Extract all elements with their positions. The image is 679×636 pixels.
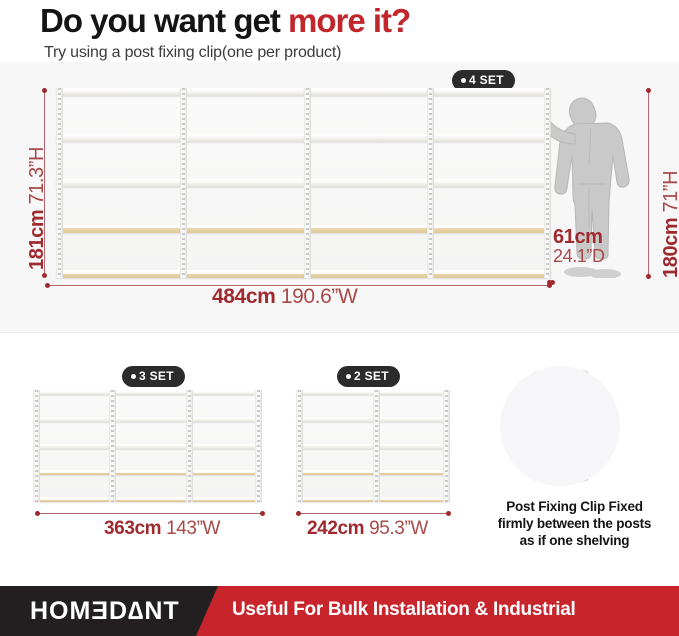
shelf-lip bbox=[109, 471, 185, 473]
shelf-board-white bbox=[186, 444, 262, 449]
shelf-lip bbox=[180, 135, 304, 138]
shelf-lip bbox=[373, 391, 450, 393]
shelf-board-white bbox=[56, 88, 180, 96]
shelf-lip bbox=[304, 135, 428, 138]
clip-caption-line-3: as if one shelving bbox=[470, 532, 679, 549]
shelf-lip bbox=[296, 471, 373, 473]
shelf-bay bbox=[304, 88, 428, 278]
shelf-board-white bbox=[180, 88, 304, 96]
shelf-post bbox=[109, 390, 116, 502]
shelf-lip bbox=[109, 391, 185, 393]
shelf-lip bbox=[56, 271, 180, 274]
shelf-board-wood bbox=[56, 225, 180, 233]
shelf-board-wood bbox=[56, 270, 180, 278]
shelf-lip bbox=[296, 418, 373, 420]
shelf-board-wood bbox=[109, 497, 185, 502]
shelf-lip bbox=[373, 445, 450, 447]
dimension-label-width-3set: 363cm 143”W bbox=[104, 518, 220, 540]
shelf-lip bbox=[373, 471, 450, 473]
shelf-board-white bbox=[180, 179, 304, 187]
shelf-board-white bbox=[296, 444, 373, 449]
brand-logo: HOMƎD∆NT bbox=[30, 597, 180, 626]
shelf-bay bbox=[109, 390, 185, 502]
set-badge-3-label: 3 SET bbox=[139, 369, 174, 383]
shelf-lip bbox=[304, 180, 428, 183]
shelf-board-wood bbox=[304, 270, 428, 278]
footer-tagline: Useful For Bulk Installation & Industria… bbox=[232, 599, 575, 621]
shelf-post bbox=[56, 88, 63, 278]
bullet-dot-icon bbox=[461, 78, 466, 83]
shelf-lip bbox=[56, 226, 180, 229]
shelf-lip bbox=[186, 445, 262, 447]
shelf-post bbox=[255, 390, 262, 502]
shelf-board-wood bbox=[33, 497, 109, 502]
shelf-bay bbox=[296, 390, 373, 502]
shelf-lip bbox=[296, 498, 373, 500]
set-badge-4-label: 4 SET bbox=[469, 73, 504, 87]
dimension-label-depth: 61cm 24.1”D bbox=[553, 228, 605, 266]
shelf-bay bbox=[186, 390, 262, 502]
dimension-line-width-3set bbox=[36, 513, 264, 514]
shelf-board-wood bbox=[109, 470, 185, 475]
shelving-rack-4set bbox=[56, 88, 551, 278]
shelf-board-wood bbox=[373, 497, 450, 502]
shelf-board-wood bbox=[373, 470, 450, 475]
footer-banner: HOMƎD∆NT Useful For Bulk Installation & … bbox=[0, 586, 679, 636]
shelf-board-white bbox=[180, 134, 304, 142]
shelf-lip bbox=[180, 89, 304, 92]
clip-caption: Post Fixing Clip Fixed firmly between th… bbox=[470, 498, 679, 549]
shelf-post bbox=[304, 88, 311, 278]
set-badge-3: 3 SET bbox=[122, 366, 185, 387]
shelf-lip bbox=[33, 418, 109, 420]
shelf-lip bbox=[109, 418, 185, 420]
shelf-lip bbox=[56, 180, 180, 183]
dimension-label-width: 484cm 190.6”W bbox=[212, 285, 357, 309]
shelf-board-white bbox=[427, 134, 551, 142]
shelf-lip bbox=[33, 498, 109, 500]
shelf-board-white bbox=[304, 179, 428, 187]
shelf-lip bbox=[186, 391, 262, 393]
shelf-lip bbox=[304, 226, 428, 229]
shelf-lip bbox=[186, 471, 262, 473]
set-badge-2: 2 SET bbox=[337, 366, 400, 387]
shelf-board-white bbox=[296, 390, 373, 395]
shelf-board-white bbox=[373, 390, 450, 395]
shelf-lip bbox=[180, 271, 304, 274]
shelf-lip bbox=[186, 498, 262, 500]
page-subtitle: Try using a post fixing clip(one per pro… bbox=[44, 44, 341, 62]
shelf-board-wood bbox=[427, 270, 551, 278]
clip-caption-line-2: firmly between the posts bbox=[470, 515, 679, 532]
shelf-board-white bbox=[109, 444, 185, 449]
shelf-board-white bbox=[33, 390, 109, 395]
shelf-lip bbox=[109, 498, 185, 500]
shelf-lip bbox=[427, 89, 551, 92]
shelf-board-white bbox=[373, 444, 450, 449]
shelf-board-white bbox=[427, 179, 551, 187]
post-fixing-clip-image bbox=[500, 366, 620, 486]
shelf-post bbox=[33, 390, 40, 502]
clip-backdrop bbox=[500, 366, 620, 486]
shelf-lip bbox=[427, 180, 551, 183]
shelf-lip bbox=[427, 271, 551, 274]
shelf-lip bbox=[186, 418, 262, 420]
shelf-post bbox=[373, 390, 380, 502]
page-title-red: more it? bbox=[288, 2, 410, 39]
shelf-lip bbox=[56, 89, 180, 92]
shelf-post bbox=[186, 390, 193, 502]
dimension-label-person-height: 180cm 71”H bbox=[660, 171, 679, 278]
shelf-board-white bbox=[296, 417, 373, 422]
shelf-lip bbox=[296, 391, 373, 393]
shelf-post bbox=[427, 88, 434, 278]
dimension-label-height: 181cm 71.3”H bbox=[26, 147, 49, 270]
page-title-black: Do you want get bbox=[40, 2, 288, 39]
shelf-board-wood bbox=[296, 470, 373, 475]
shelf-board-wood bbox=[304, 225, 428, 233]
shelf-bay bbox=[56, 88, 180, 278]
shelf-board-wood bbox=[427, 225, 551, 233]
set-badge-2-label: 2 SET bbox=[354, 369, 389, 383]
shelf-board-wood bbox=[186, 470, 262, 475]
shelf-post bbox=[443, 390, 450, 502]
page-title: Do you want get more it? bbox=[40, 2, 410, 40]
shelf-board-white bbox=[109, 390, 185, 395]
shelf-lip bbox=[296, 445, 373, 447]
shelf-bay bbox=[33, 390, 109, 502]
shelf-lip bbox=[33, 471, 109, 473]
shelf-board-wood bbox=[33, 470, 109, 475]
shelving-rack-2set bbox=[296, 390, 450, 502]
shelf-bay bbox=[373, 390, 450, 502]
dimension-line-width-2set bbox=[297, 513, 450, 514]
shelf-board-wood bbox=[180, 225, 304, 233]
shelf-lip bbox=[373, 498, 450, 500]
shelf-lip bbox=[373, 418, 450, 420]
shelf-board-wood bbox=[180, 270, 304, 278]
shelf-post bbox=[544, 88, 551, 278]
shelf-lip bbox=[304, 89, 428, 92]
shelf-post bbox=[296, 390, 303, 502]
shelf-post bbox=[180, 88, 187, 278]
shelf-board-white bbox=[186, 390, 262, 395]
shelf-board-white bbox=[186, 417, 262, 422]
shelf-board-white bbox=[56, 179, 180, 187]
bullet-dot-icon bbox=[346, 374, 351, 379]
shelf-board-white bbox=[373, 417, 450, 422]
shelf-lip bbox=[427, 135, 551, 138]
shelf-lip bbox=[304, 271, 428, 274]
shelf-lip bbox=[180, 180, 304, 183]
shelf-board-white bbox=[427, 88, 551, 96]
shelf-board-white bbox=[304, 88, 428, 96]
shelf-lip bbox=[109, 445, 185, 447]
shelf-board-white bbox=[109, 417, 185, 422]
dimension-label-width-2set: 242cm 95.3”W bbox=[307, 518, 428, 540]
clip-caption-line-1: Post Fixing Clip Fixed bbox=[470, 498, 679, 515]
shelf-board-white bbox=[56, 134, 180, 142]
shelf-bay bbox=[180, 88, 304, 278]
shelf-board-white bbox=[33, 444, 109, 449]
shelf-lip bbox=[56, 135, 180, 138]
bullet-dot-icon bbox=[131, 374, 136, 379]
dimension-line-height-right bbox=[648, 89, 649, 278]
shelf-board-wood bbox=[186, 497, 262, 502]
shelf-bay bbox=[427, 88, 551, 278]
shelf-board-white bbox=[33, 417, 109, 422]
shelf-board-wood bbox=[296, 497, 373, 502]
shelving-rack-3set bbox=[33, 390, 262, 502]
shelf-lip bbox=[33, 445, 109, 447]
shelf-lip bbox=[180, 226, 304, 229]
shelf-lip bbox=[33, 391, 109, 393]
shelf-lip bbox=[427, 226, 551, 229]
shelf-board-white bbox=[304, 134, 428, 142]
